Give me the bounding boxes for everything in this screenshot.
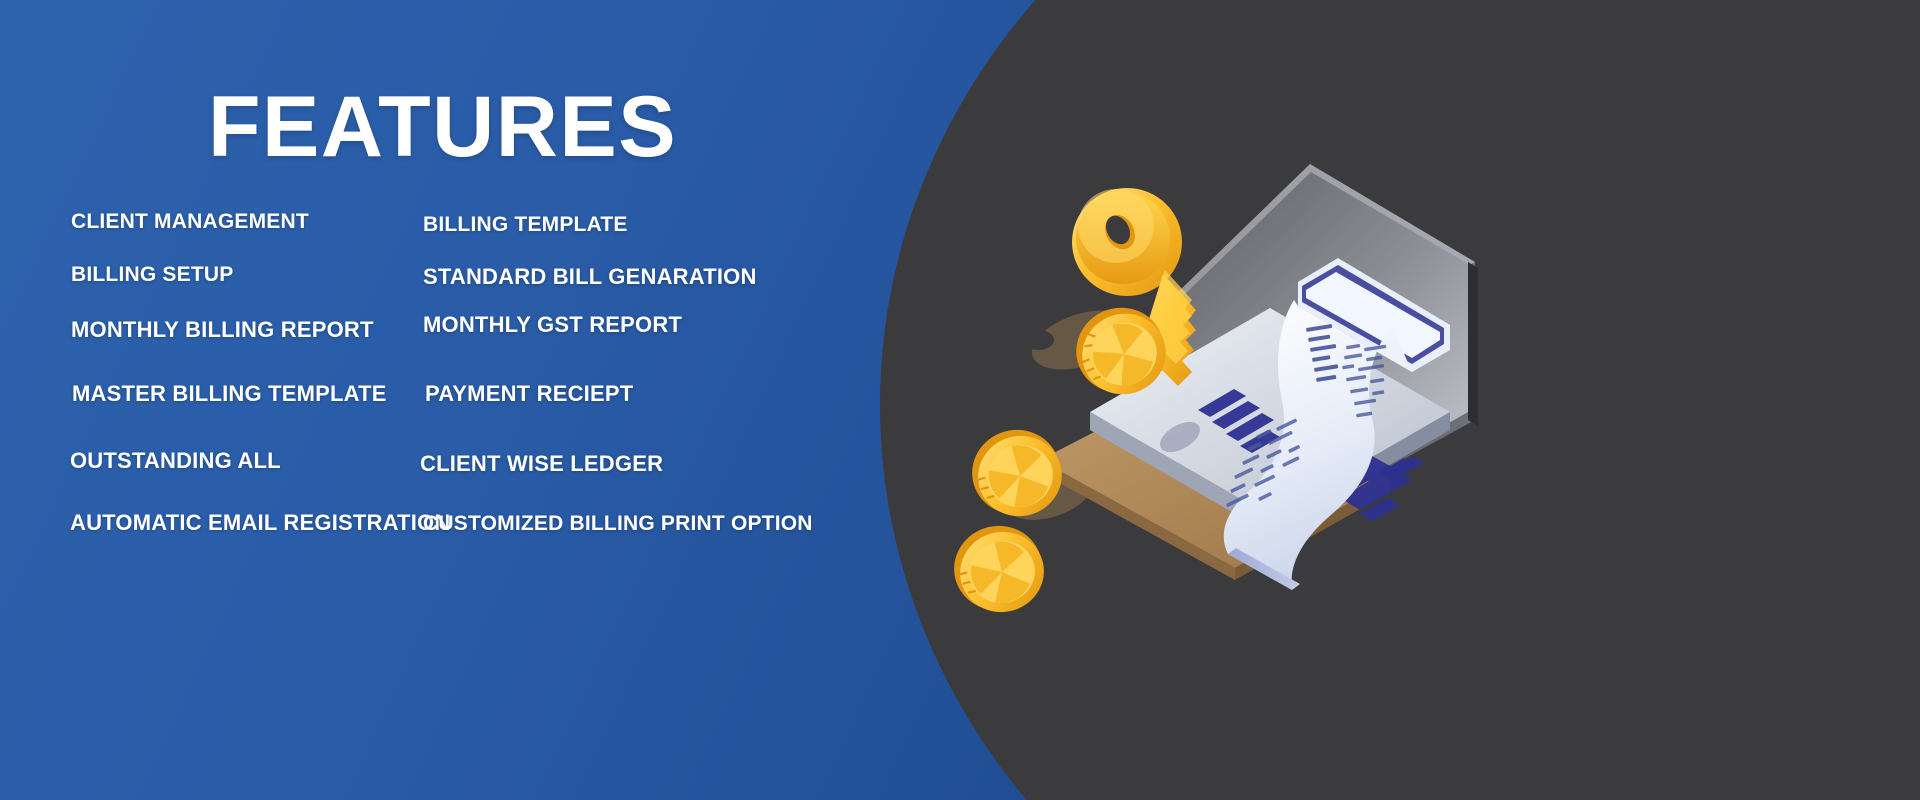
feature-item-billing-template: BILLING TEMPLATE — [423, 213, 628, 237]
feature-item-master-billing-template: MASTER BILLING TEMPLATE — [72, 381, 387, 407]
feature-item-monthly-billing-report: MONTHLY BILLING REPORT — [71, 317, 374, 343]
feature-item-monthly-gst-report: MONTHLY GST REPORT — [423, 312, 682, 338]
feature-item-payment-receipt: PAYMENT RECIEPT — [425, 381, 633, 407]
feature-item-outstanding-all: OUTSTANDING ALL — [70, 448, 281, 474]
feature-item-customized-billing-print-option: CUSTOMIZED BILLING PRINT OPTION — [423, 512, 813, 536]
feature-item-automatic-email-registration: AUTOMATIC EMAIL REGISTRATION — [70, 510, 450, 536]
page-title: FEATURES — [208, 84, 677, 170]
feature-item-standard-bill-generation: STANDARD BILL GENARATION — [423, 264, 757, 290]
slide-canvas: FEATURES CLIENT MANAGEMENT BILLING SETUP… — [0, 0, 1920, 800]
feature-item-client-wise-ledger: CLIENT WISE LEDGER — [420, 451, 663, 477]
feature-item-client-management: CLIENT MANAGEMENT — [71, 210, 309, 234]
background-dark-right-fill — [1560, 0, 1920, 800]
feature-item-billing-setup: BILLING SETUP — [71, 263, 233, 287]
billing-illustration — [1020, 150, 1540, 610]
